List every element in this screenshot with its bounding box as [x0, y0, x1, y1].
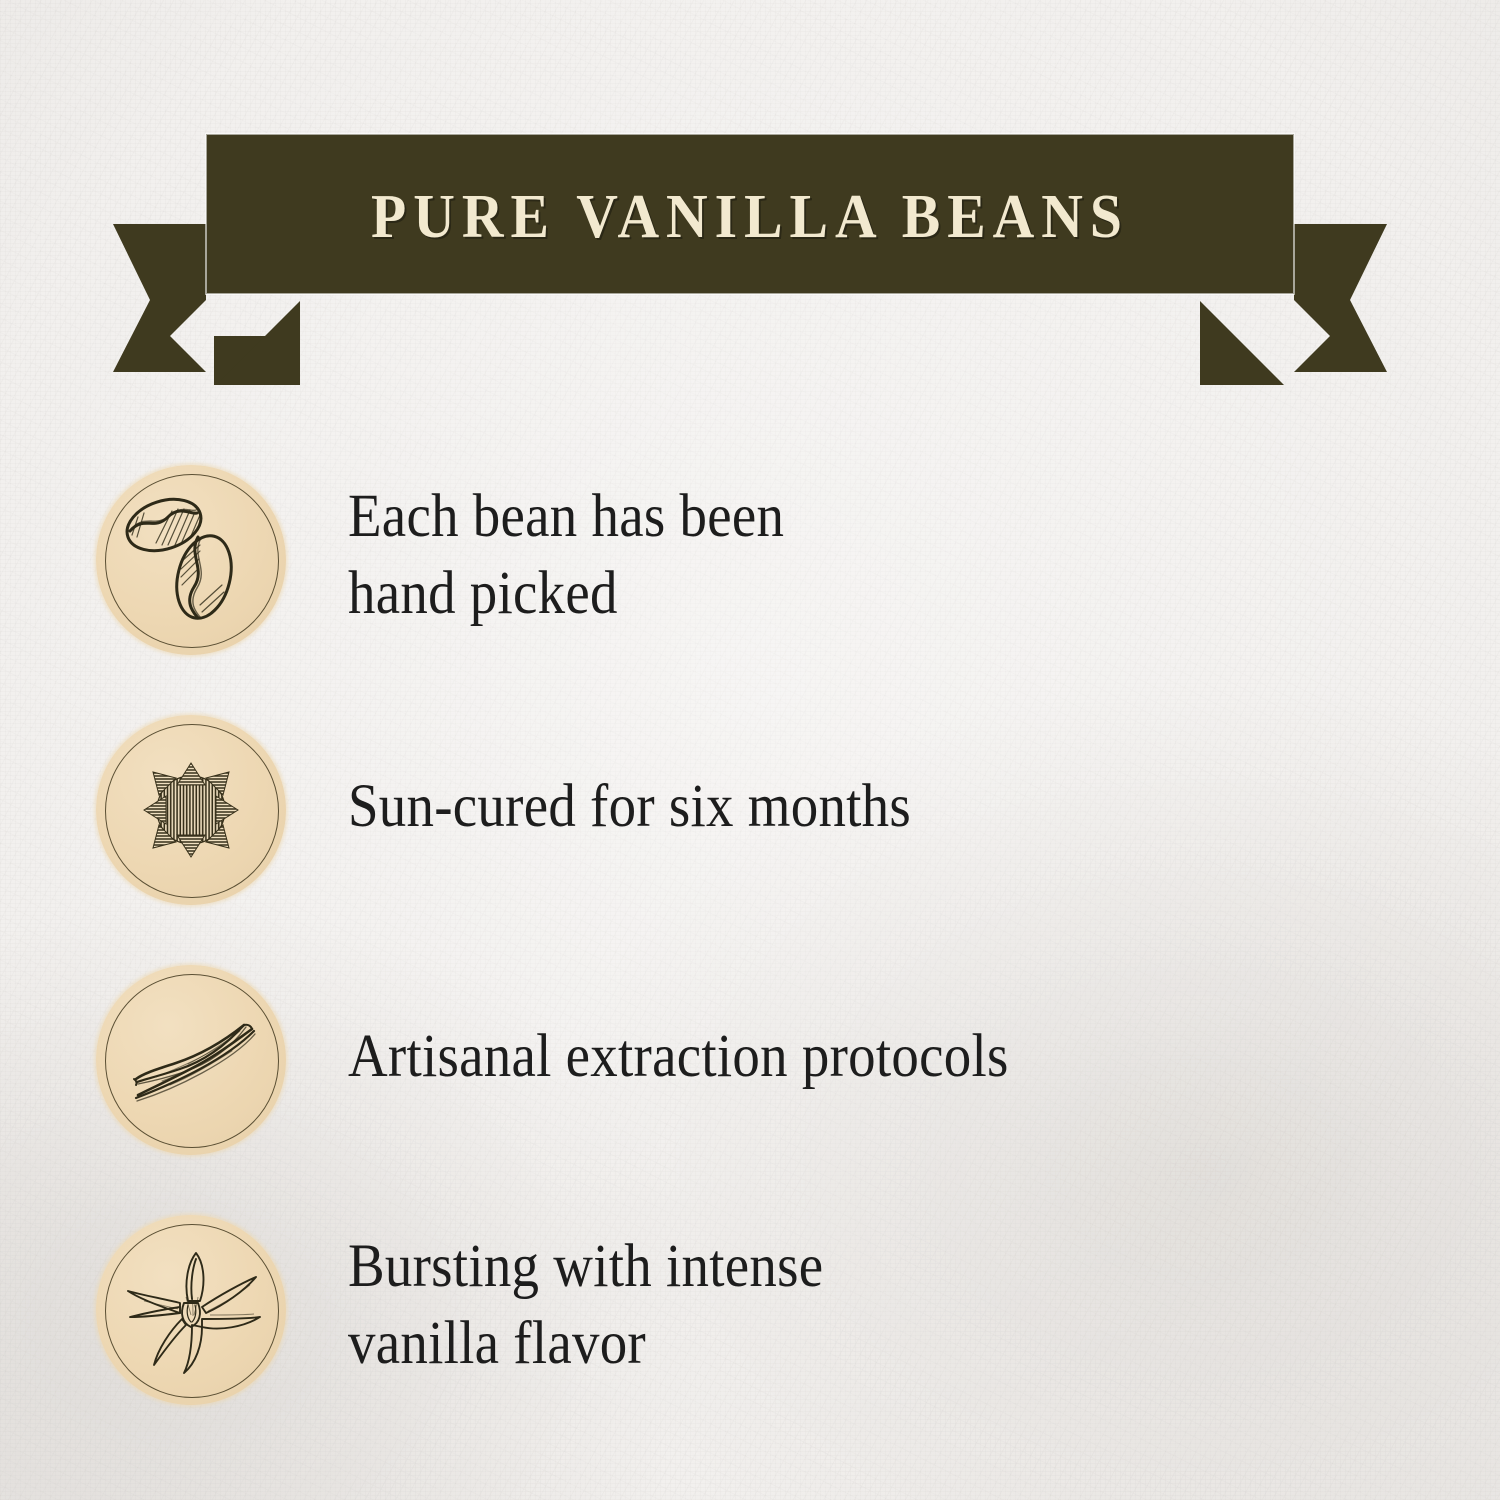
sun-icon — [96, 715, 286, 905]
feature-line: hand picked — [348, 555, 1347, 632]
vanilla-flower-glyph — [96, 1215, 286, 1405]
feature-text: Artisanal extraction protocols — [348, 1018, 1347, 1095]
list-item: Sun-cured for six months — [0, 710, 1500, 910]
feature-line: Bursting with intense — [348, 1228, 1347, 1305]
feature-text: Each bean has been hand picked — [348, 478, 1347, 633]
vanilla-pods-icon — [96, 965, 286, 1155]
feature-line: Each bean has been — [348, 478, 1347, 555]
coffee-beans-icon — [96, 465, 286, 655]
feature-text: Sun-cured for six months — [348, 768, 1347, 845]
feature-line: Artisanal extraction protocols — [348, 1018, 1347, 1095]
list-item: Artisanal extraction protocols — [0, 960, 1500, 1160]
list-item: Bursting with intense vanilla flavor — [0, 1210, 1500, 1410]
sun-glyph — [96, 715, 286, 905]
vanilla-flower-icon — [96, 1215, 286, 1405]
coffee-beans-glyph — [96, 465, 286, 655]
vanilla-pods-glyph — [96, 965, 286, 1155]
header-banner: PURE VANILLA BEANS — [0, 0, 1500, 420]
banner-title: PURE VANILLA BEANS — [244, 134, 1256, 294]
list-item: Each bean has been hand picked — [0, 460, 1500, 660]
feature-text: Bursting with intense vanilla flavor — [348, 1228, 1347, 1383]
product-feature-infographic: PURE VANILLA BEANS — [0, 0, 1500, 1500]
feature-line: vanilla flavor — [348, 1305, 1347, 1382]
feature-line: Sun-cured for six months — [348, 768, 1347, 845]
